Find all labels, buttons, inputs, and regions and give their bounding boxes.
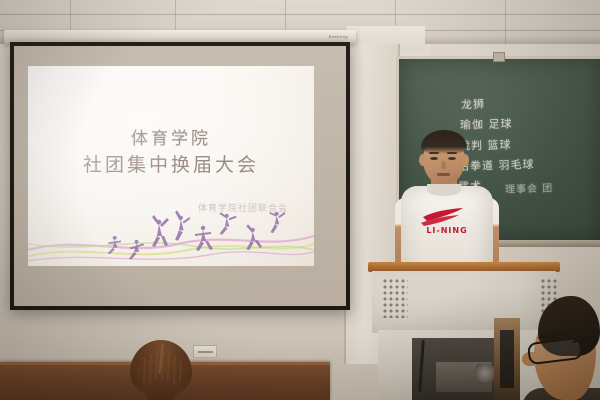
audience-ponytail bbox=[118, 340, 204, 400]
board-clip bbox=[493, 52, 505, 62]
speaker-hair bbox=[421, 130, 467, 154]
speaker-mouth bbox=[437, 173, 450, 176]
classroom-scene: 龙狮 瑜伽 足球 裁判 篮球 跆拳道 羽毛球 武术 理事会 团 Bosheng … bbox=[0, 0, 600, 400]
speaker-right-ear bbox=[461, 154, 469, 166]
audience-with-glasses bbox=[516, 296, 600, 400]
speaker-left-eye bbox=[430, 157, 438, 160]
speaker-at-podium: LI-NING bbox=[395, 128, 499, 278]
slide-surface: 体育学院 社团集中换届大会 体育学院社团联合会 bbox=[28, 66, 314, 266]
slide-ribbon-decoration bbox=[28, 206, 314, 266]
projection-screen[interactable]: 体育学院 社团集中换届大会 体育学院社团联合会 bbox=[10, 42, 350, 310]
chalk-line-6: 理事会 团 bbox=[505, 179, 554, 195]
case-brand-label: Bosheng bbox=[329, 34, 348, 39]
chalk-line-1: 龙狮 bbox=[461, 96, 485, 113]
slide-title-line2: 社团集中换届大会 bbox=[28, 150, 314, 177]
foreground-monitor-screen bbox=[500, 330, 514, 388]
speaker-left-ear bbox=[419, 154, 427, 166]
speaker-collar bbox=[427, 184, 461, 196]
speaker-grille-left bbox=[382, 278, 408, 318]
speaker-right-eye bbox=[448, 157, 456, 160]
svg-text:LI-NING: LI-NING bbox=[426, 226, 467, 234]
lining-brand-logo: LI-NING bbox=[419, 204, 475, 234]
ponytail-tail bbox=[146, 380, 176, 400]
equipment-fan bbox=[476, 364, 494, 382]
slide-title-line1: 体育学院 bbox=[28, 124, 314, 149]
speaker-nose bbox=[441, 161, 446, 169]
